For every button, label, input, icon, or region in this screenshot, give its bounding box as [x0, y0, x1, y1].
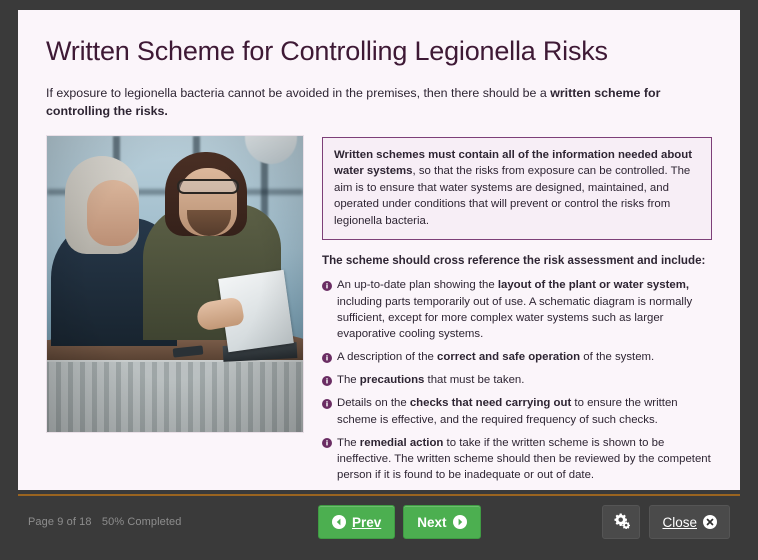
cogs-icon [613, 512, 630, 532]
list-item-text: An up-to-date plan showing the [337, 279, 498, 291]
list-item-text: A description of the [337, 351, 437, 363]
next-button-label: Next [417, 515, 446, 530]
info-circle-icon [322, 280, 332, 290]
intro-paragraph: If exposure to legionella bacteria canno… [46, 85, 701, 121]
list-item-bold: remedial action [360, 437, 444, 449]
close-circle-icon [703, 515, 717, 529]
info-circle-icon [322, 398, 332, 408]
photo-vignette [47, 136, 303, 432]
list-item-text-cont: of the system. [580, 351, 654, 363]
chevron-left-circle-icon [332, 515, 346, 529]
list-item-text-cont: including parts temporarily out of use. … [337, 296, 692, 340]
status-separator [92, 516, 102, 528]
list-item-text-cont: that must be taken. [424, 374, 524, 386]
info-circle-icon [322, 437, 332, 447]
completion-indicator: 50% Completed [102, 516, 182, 528]
list-item: An up-to-date plan showing the layout of… [322, 277, 712, 342]
requirements-list: An up-to-date plan showing the layout of… [322, 277, 712, 483]
photo-column [46, 135, 304, 433]
progress-status: Page 9 of 18 50% Completed [28, 516, 181, 528]
settings-button[interactable] [602, 505, 640, 539]
page-title: Written Scheme for Controlling Legionell… [46, 36, 712, 67]
intro-text: If exposure to legionella bacteria canno… [46, 86, 550, 100]
list-item-bold: correct and safe operation [437, 351, 580, 363]
close-button-label: Close [662, 515, 697, 530]
player-footer-bar: Page 9 of 18 50% Completed Prev Next [18, 494, 740, 550]
next-button[interactable]: Next [403, 505, 480, 539]
list-item: The precautions that must be taken. [322, 372, 712, 388]
list-item: Details on the checks that need carrying… [322, 395, 712, 427]
list-item: A description of the correct and safe op… [322, 349, 712, 365]
list-item: The remedial action to take if the writt… [322, 435, 712, 484]
page-indicator: Page 9 of 18 [28, 516, 92, 528]
list-item-bold: layout of the plant or water system, [498, 279, 689, 291]
slide-content-card: Written Scheme for Controlling Legionell… [18, 10, 740, 490]
info-circle-icon [322, 375, 332, 385]
prev-button-label: Prev [352, 515, 381, 530]
list-item-text: The [337, 437, 360, 449]
navigation-buttons: Prev Next [318, 505, 481, 539]
prev-button[interactable]: Prev [318, 505, 395, 539]
list-item-bold: checks that need carrying out [410, 397, 571, 409]
chevron-right-circle-icon [453, 515, 467, 529]
lesson-photo [46, 135, 304, 433]
list-item-text: Details on the [337, 397, 410, 409]
list-lead-in: The scheme should cross reference the ri… [322, 253, 712, 269]
elearning-slide-viewer: Written Scheme for Controlling Legionell… [0, 0, 758, 560]
close-button[interactable]: Close [649, 505, 730, 539]
callout-box: Written schemes must contain all of the … [322, 137, 712, 240]
info-circle-icon [322, 352, 332, 362]
text-column: Written schemes must contain all of the … [322, 135, 712, 483]
list-item-text: The [337, 374, 360, 386]
list-item-bold: precautions [360, 374, 425, 386]
footer-tools: Close [602, 505, 730, 539]
